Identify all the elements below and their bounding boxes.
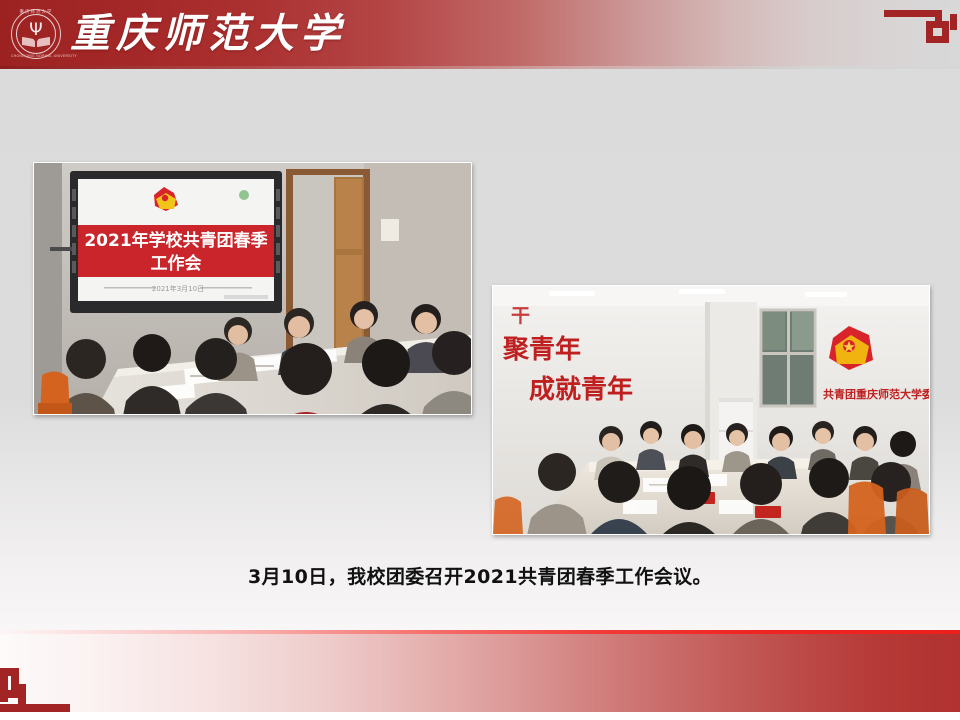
svg-text:工作会: 工作会 bbox=[151, 253, 202, 274]
university-name-title: 重庆师范大学 bbox=[70, 5, 346, 63]
logo-rim-text-top: 重庆师范大学 bbox=[14, 9, 58, 15]
university-seal-logo: 重庆师范大学 Ψ CHONGQING NORMAL UNIVERSITY bbox=[6, 4, 66, 64]
svg-text:2021年学校共青团春季: 2021年学校共青团春季 bbox=[84, 230, 267, 251]
header-underline bbox=[0, 66, 960, 69]
svg-text:成就青年: 成就青年 bbox=[529, 374, 633, 405]
corner-ornament-top-right bbox=[864, 0, 960, 60]
presentation-slide: 重庆师范大学 Ψ CHONGQING NORMAL UNIVERSITY 重庆师… bbox=[0, 0, 960, 720]
slide-caption: 3月10日，我校团委召开2021共青团春季工作会议。 bbox=[0, 562, 960, 589]
logo-open-book-icon bbox=[22, 38, 50, 47]
photo-meeting-presentation: 2021年学校共青团春季 工作会 2021年3月10日 bbox=[33, 162, 472, 415]
slide-bottom-edge bbox=[0, 712, 960, 720]
svg-text:2021年3月10日: 2021年3月10日 bbox=[152, 284, 204, 293]
svg-text:聚青年: 聚青年 bbox=[502, 334, 581, 365]
corner-ornament-bottom-left bbox=[0, 644, 96, 720]
photo-meeting-roundtable: 干 聚青年 成就青年 共 bbox=[492, 285, 930, 535]
slide-footer-band bbox=[0, 634, 960, 712]
logo-rim-text-bottom: CHONGQING NORMAL UNIVERSITY bbox=[11, 54, 61, 58]
svg-text:干: 干 bbox=[511, 305, 530, 327]
svg-text:共青团重庆师范大学委员会: 共青团重庆师范大学委员会 bbox=[823, 387, 929, 401]
